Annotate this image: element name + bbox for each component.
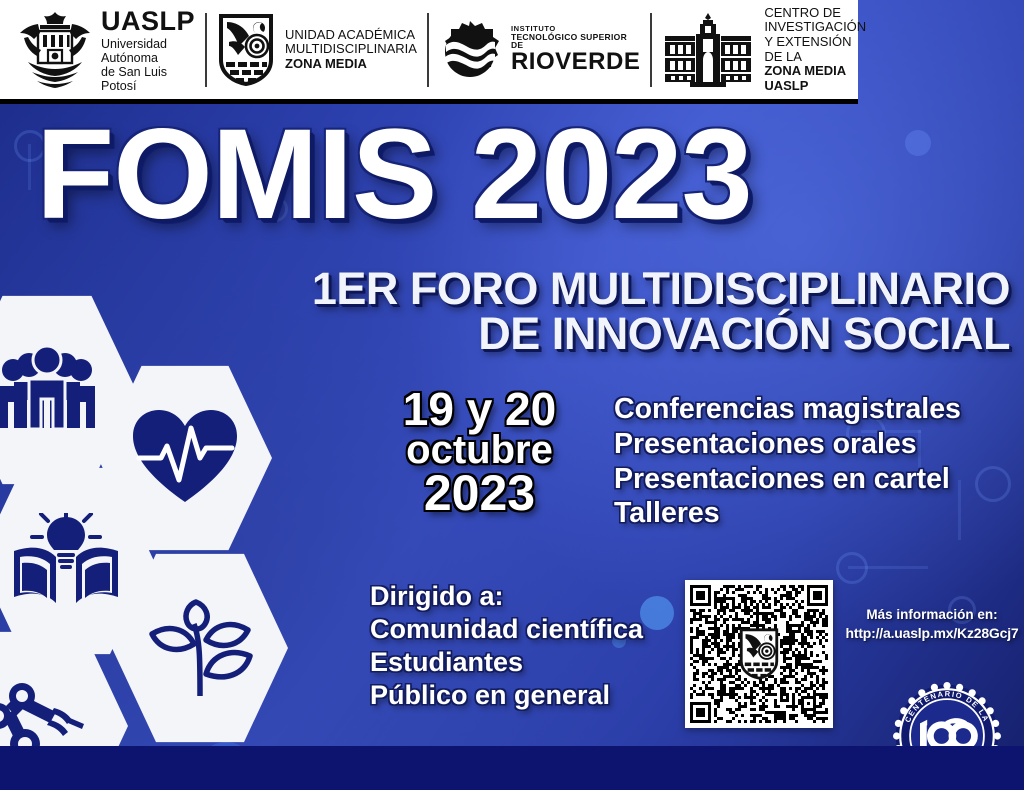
more-info-block: Más información en: http://a.uaslp.mx/Kz…	[842, 606, 1022, 643]
qr-code[interactable]	[685, 580, 833, 728]
logo-uaslp: UASLP Universidad Autónoma de San Luis P…	[8, 8, 205, 92]
more-info-url[interactable]: http://a.uaslp.mx/Kz28Gcj7	[842, 624, 1022, 643]
logo-uamzm-line1: UNIDAD ACADÉMICA	[285, 28, 417, 43]
logo-rioverde: INSTITUTO TECNOLÓGICO SUPERIOR DE RIOVER…	[429, 8, 650, 92]
uamzm-shield-icon	[736, 627, 782, 681]
logo-centro-investigacion: CENTRO DE INVESTIGACIÓN Y EXTENSIÓN DE L…	[652, 8, 876, 92]
poster-canvas: UASLP Universidad Autónoma de San Luis P…	[0, 0, 1024, 790]
circuit-trace	[848, 566, 928, 569]
uamzm-shield-icon	[217, 12, 275, 88]
logo-uaslp-line1: UASLP	[101, 6, 195, 36]
list-item: Presentaciones en cartel	[614, 462, 1014, 497]
logo-uaslp-line2: Universidad Autónoma	[101, 37, 195, 65]
bottom-band	[0, 746, 1024, 790]
circuit-trace	[28, 144, 31, 190]
page-title: FOMIS 2023	[36, 112, 996, 237]
event-date-year: 2023	[372, 468, 587, 518]
more-info-label: Más información en:	[842, 606, 1022, 624]
event-date-days: 19 y 20	[372, 386, 587, 432]
uaslp-crest-icon	[18, 10, 92, 90]
list-item: Comunidad científica	[370, 613, 700, 646]
logo-rioverde-line3: RIOVERDE	[511, 50, 640, 74]
list-item: Conferencias magistrales	[614, 392, 1014, 427]
logo-uamzm: UNIDAD ACADÉMICA MULTIDISCIPLINARIA ZONA…	[207, 8, 427, 92]
audience-block: Dirigido a: Comunidad científica Estudia…	[370, 580, 700, 712]
logo-centro-line1: CENTRO DE INVESTIGACIÓN	[764, 6, 866, 35]
list-item: Estudiantes	[370, 646, 700, 679]
logo-uamzm-line2: MULTIDISCIPLINARIA	[285, 42, 417, 57]
activities-list: Conferencias magistrales Presentaciones …	[614, 392, 1014, 531]
circuit-ring	[836, 552, 868, 584]
logo-uamzm-line3: ZONA MEDIA	[285, 57, 417, 72]
header-right-background	[858, 0, 1024, 104]
list-item: Público en general	[370, 679, 700, 712]
list-item: Presentaciones orales	[614, 427, 1014, 462]
list-item: Talleres	[614, 496, 1014, 531]
header-logo-strip: UASLP Universidad Autónoma de San Luis P…	[0, 0, 858, 104]
logo-centro-line2: Y EXTENSIÓN DE LA	[764, 35, 866, 64]
logo-centro-line3: ZONA MEDIA UASLP	[764, 64, 866, 93]
event-date: 19 y 20 octubre 2023	[372, 386, 587, 518]
subtitle-line-1: 1ER FORO MULTIDISCIPLINARIO	[312, 263, 1010, 314]
rioverde-gear-icon	[439, 19, 501, 81]
logo-uaslp-line3: de San Luis Potosí	[101, 65, 195, 93]
hexagon-icon-cluster	[0, 292, 318, 790]
building-icon	[662, 13, 754, 87]
event-date-month: octubre	[372, 430, 587, 470]
audience-heading: Dirigido a:	[370, 580, 700, 613]
